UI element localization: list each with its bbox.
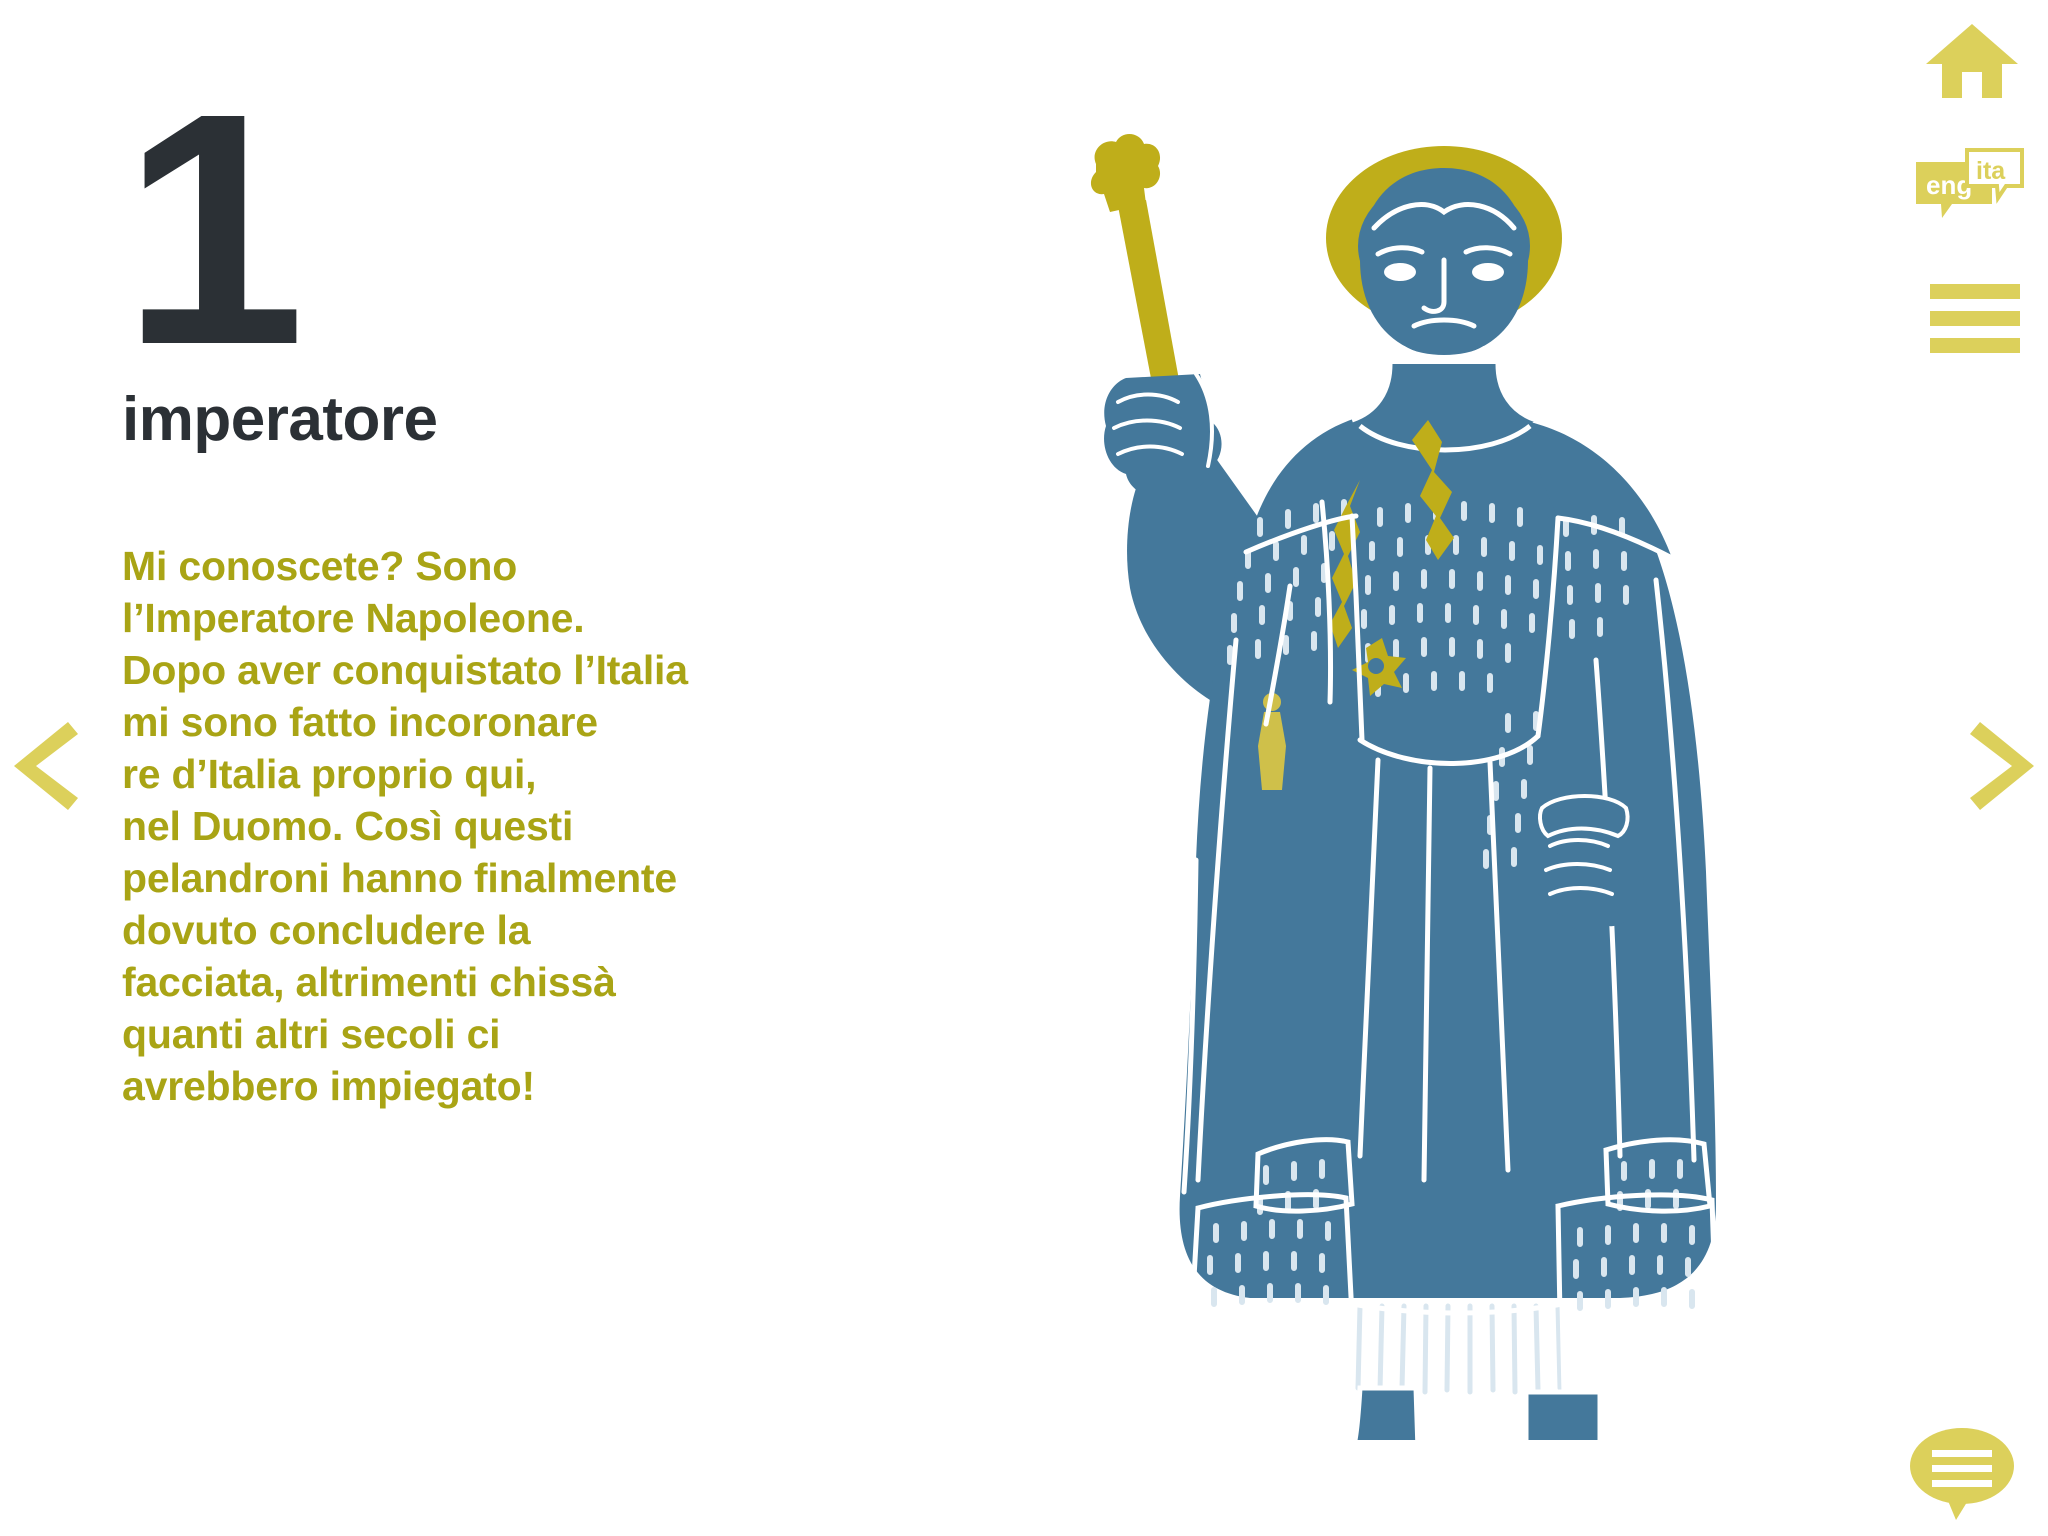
head <box>1326 146 1562 358</box>
hamburger-menu-icon-bar-3 <box>1930 338 2020 353</box>
slide-number: 1 <box>122 100 882 357</box>
hamburger-menu-icon-bar-1 <box>1930 284 2020 299</box>
hamburger-menu-icon-bar-2 <box>1930 311 2020 326</box>
slide-stage: 1 imperatore Mi conoscete? Sono l’Impera… <box>0 0 2048 1536</box>
slide-text-column: 1 imperatore Mi conoscete? Sono l’Impera… <box>122 100 882 1112</box>
page-title: imperatore <box>122 387 882 452</box>
home-icon <box>1924 20 2020 100</box>
napoleon-figure-svg <box>1060 120 1850 1440</box>
slide-body-text: Mi conoscete? Sono l’Imperatore Napoleon… <box>122 540 882 1112</box>
language-toggle-icon: eng ita <box>1914 148 2024 220</box>
next-slide-button[interactable] <box>1966 716 2038 816</box>
gripping-hand <box>1104 374 1222 496</box>
napoleon-emperor-illustration <box>1060 120 1850 1440</box>
speech-bubble-icon <box>1904 1422 2020 1522</box>
chevron-right-icon <box>1966 716 2038 816</box>
chevron-left-icon <box>10 716 82 816</box>
hem-fringe <box>1358 1306 1560 1392</box>
boots <box>1276 1388 1600 1440</box>
menu-button[interactable] <box>1930 284 2020 352</box>
language-toggle[interactable]: eng ita <box>1914 148 2024 220</box>
transcript-button[interactable] <box>1904 1422 2020 1522</box>
prev-slide-button[interactable] <box>10 716 82 816</box>
home-button[interactable] <box>1924 20 2020 100</box>
language-option-ita-label: ita <box>1976 157 2006 185</box>
